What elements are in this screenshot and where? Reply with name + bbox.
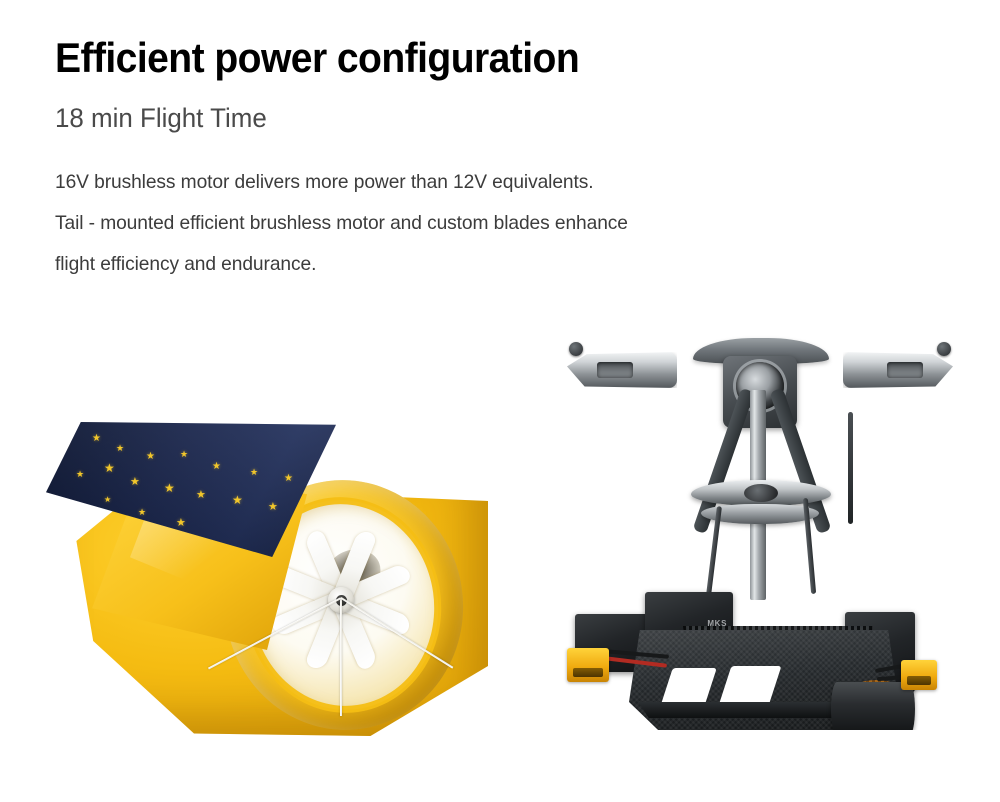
grip-slot-right: [887, 362, 923, 378]
ducted-fan-image: ★★★★★★★★★★★★★★★★★★: [40, 400, 510, 745]
helicopter-mechanics-image: MKS HV6130: [545, 330, 975, 730]
paragraph-line-2: Tail - mounted efficient brushless motor…: [55, 203, 922, 244]
product-feature-page: Efficient power configuration 18 min Fli…: [0, 0, 1000, 802]
paragraph-line-3: flight efficiency and endurance.: [55, 244, 922, 285]
ducted-fan-illustration: ★★★★★★★★★★★★★★★★★★: [40, 400, 510, 745]
paragraph-line-1: 16V brushless motor delivers more power …: [55, 162, 922, 203]
feature-paragraph: 16V brushless motor delivers more power …: [55, 162, 935, 285]
text-block: Efficient power configuration 18 min Fli…: [55, 36, 955, 285]
antenna-rod: [848, 412, 853, 524]
rotor-grip-right: [843, 352, 953, 388]
page-title: Efficient power configuration: [55, 36, 892, 80]
swashplate-upper: [691, 480, 831, 506]
page-subtitle: 18 min Flight Time: [55, 102, 919, 134]
xt60-connector-left: [567, 648, 609, 682]
xt60-connector-right: [901, 660, 937, 690]
duct-support-strut: [340, 598, 342, 716]
grip-bolt-right: [937, 342, 951, 356]
rotor-grip-left: [567, 352, 677, 388]
grip-slot-left: [597, 362, 633, 378]
helicopter-mechanics-illustration: MKS HV6130: [545, 330, 975, 730]
grip-bolt-left: [569, 342, 583, 356]
